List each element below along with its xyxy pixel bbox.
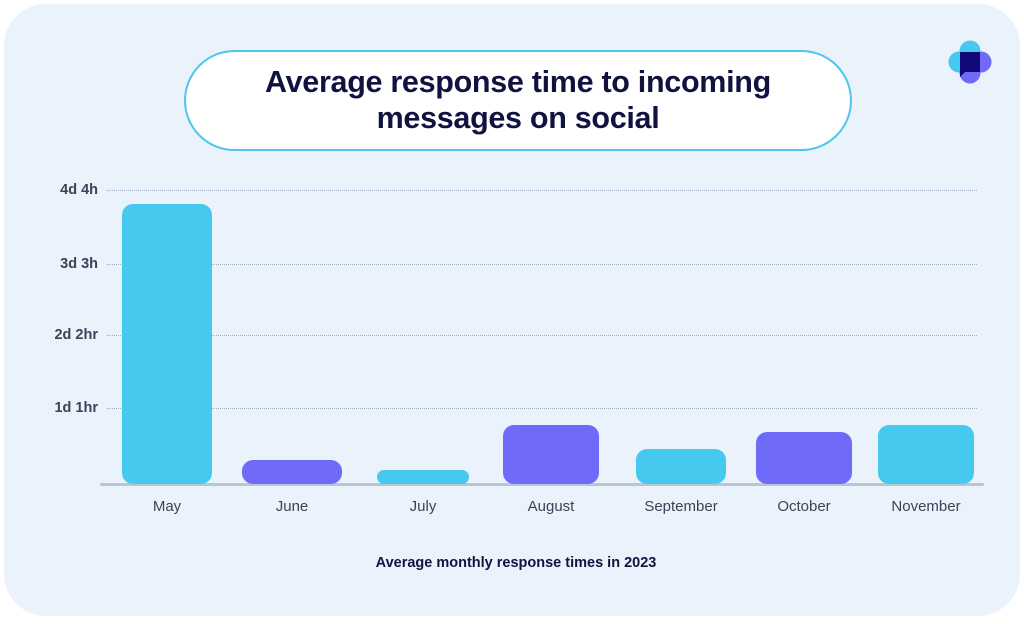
y-axis-tick-label: 1d 1hr [54, 400, 98, 416]
bar-september[interactable] [636, 449, 726, 484]
bar-june[interactable] [242, 460, 342, 484]
bar-august[interactable] [503, 425, 599, 484]
y-axis-tick-label: 2d 2hr [54, 327, 98, 343]
bar-november[interactable] [878, 425, 974, 484]
x-axis-label-june: June [276, 498, 309, 515]
x-axis-label-september: September [644, 498, 717, 515]
chart-card: Average response time to incoming messag… [4, 4, 1020, 616]
x-axis-label-october: October [777, 498, 830, 515]
gridline-1 [107, 408, 977, 409]
bar-july[interactable] [377, 470, 469, 484]
bar-october[interactable] [756, 432, 852, 484]
gridline-3 [107, 264, 977, 265]
y-axis-tick-label: 4d 4h [60, 182, 98, 198]
x-axis-label-august: August [528, 498, 575, 515]
x-axis-label-july: July [410, 498, 437, 515]
x-axis-label-november: November [891, 498, 960, 515]
bar-chart-plot: 4d 4h3d 3h2d 2hr1d 1hr MayJuneJulyAugust… [4, 4, 1024, 624]
bar-may[interactable] [122, 204, 212, 484]
chart-caption: Average monthly response times in 2023 [4, 555, 1024, 571]
gridline-2 [107, 335, 977, 336]
y-axis-tick-label: 3d 3h [60, 256, 98, 272]
gridline-4 [107, 190, 977, 191]
x-axis-label-may: May [153, 498, 181, 515]
